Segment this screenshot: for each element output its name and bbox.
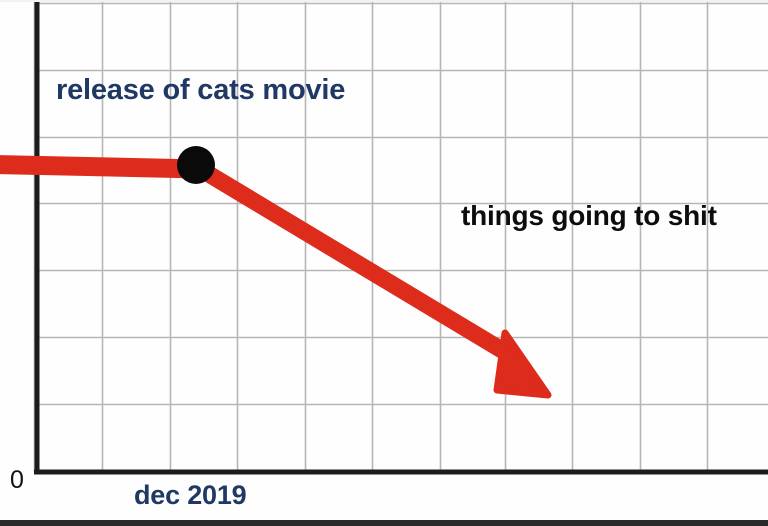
x-axis-event-label: dec 2019 (134, 480, 247, 511)
chart-image: release of cats movie things going to sh… (0, 0, 768, 526)
trend-line-decline (197, 167, 515, 358)
trend-line-flat (0, 164, 200, 169)
grid-vertical-lines (35, 2, 708, 472)
decline-annotation-label: things going to shit (461, 200, 717, 232)
y-axis-origin-label: 0 (10, 466, 24, 495)
release-annotation-label: release of cats movie (56, 74, 345, 107)
bottom-border-strip (0, 520, 768, 526)
trend-arrowhead (497, 333, 548, 395)
event-marker-dot (177, 146, 215, 184)
